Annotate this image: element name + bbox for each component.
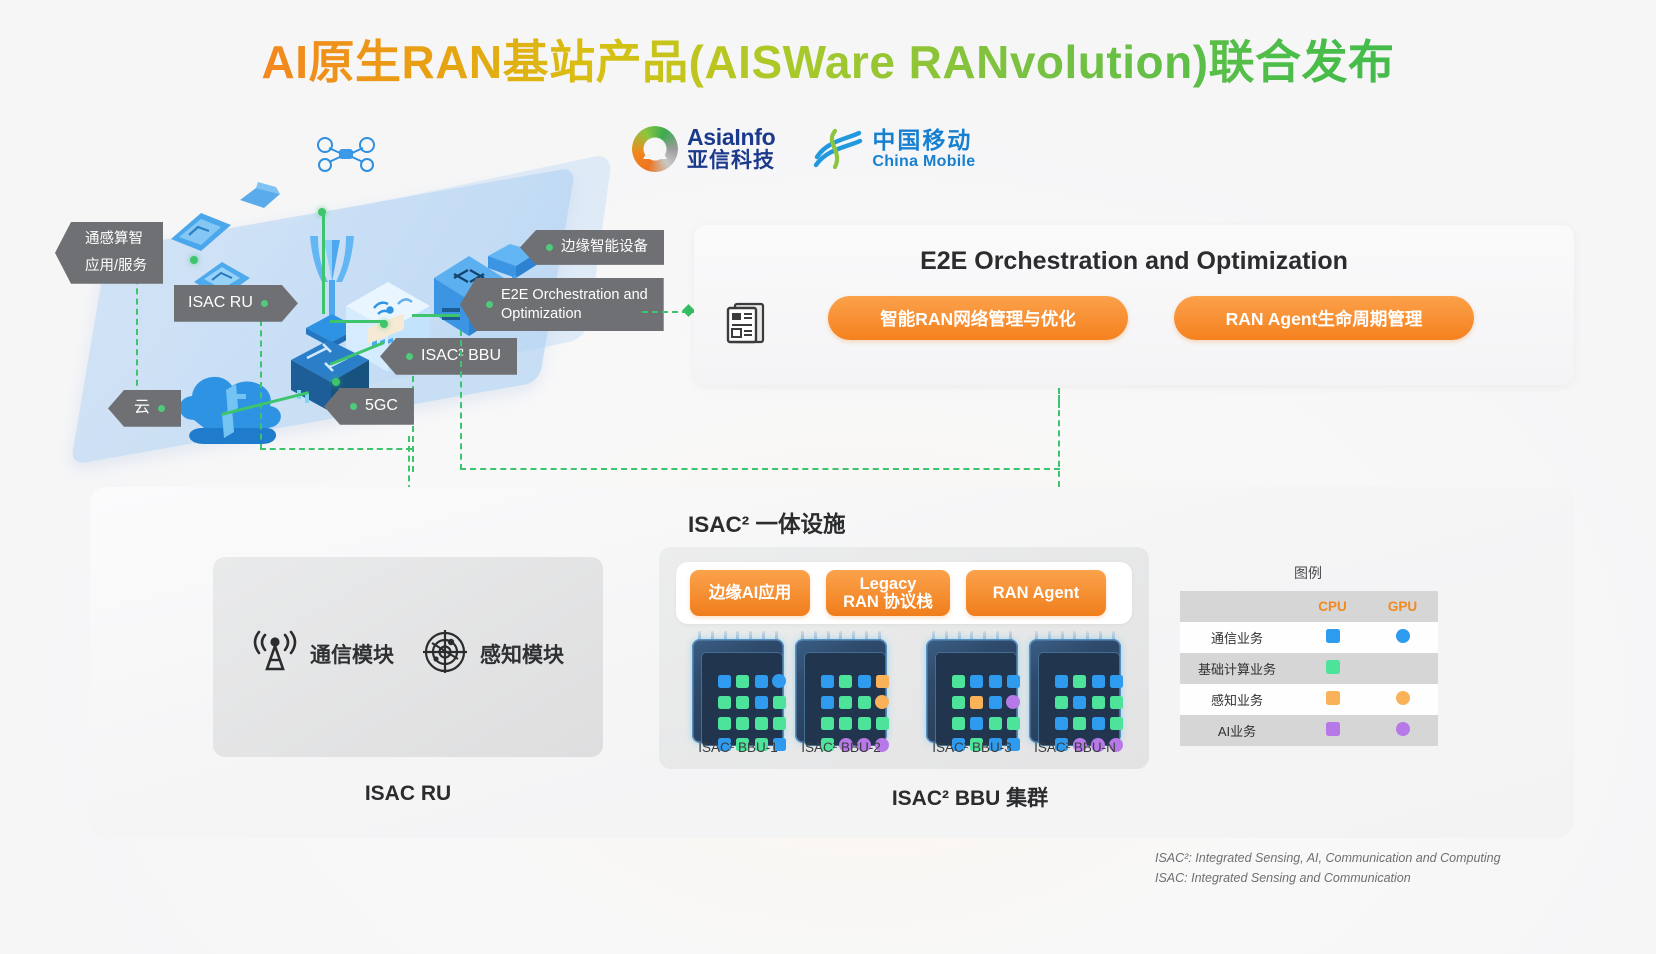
antenna-signal-icon (252, 629, 298, 678)
chip-core-cell (952, 696, 965, 709)
chip-core-cell (772, 674, 786, 688)
link-center-to-switch (412, 314, 460, 317)
chip-inner (1038, 652, 1120, 746)
color-swatch (1326, 660, 1340, 674)
legend-row-label: 基础计算业务 (1180, 653, 1298, 684)
chip-core-cell (773, 696, 786, 709)
legend-swatch-cpu (1298, 653, 1367, 684)
slide-canvas: AI原生RAN基站产品(AISWare RANvolution)联合发布 Asi… (0, 0, 1656, 954)
dashed-link-ru-h (260, 448, 412, 450)
chip-core-cell (718, 675, 731, 688)
bbu-cluster-caption: ISAC² BBU 集群 (800, 782, 1140, 812)
ru-module-sensing: 感知模块 (422, 629, 564, 678)
footnote-isac2: ISAC²: Integrated Sensing, AI, Communica… (1155, 848, 1501, 868)
link-dot (332, 378, 340, 386)
legend-panel: 图例 CPU GPU 通信业务基础计算业务感知业务AI业务 (1172, 547, 1444, 769)
chip-core-cell (989, 675, 1002, 688)
color-swatch (1396, 722, 1410, 736)
document-icon (726, 301, 766, 350)
tag-e2e-line1: E2E Orchestration and (501, 286, 648, 305)
chip-core-cell (858, 696, 871, 709)
chip-core-cell (970, 675, 983, 688)
chip-core-cell (858, 717, 871, 730)
chip-core-cell (736, 717, 749, 730)
cloud-icon (170, 358, 292, 450)
legend-header-blank (1180, 591, 1298, 622)
asiainfo-name-en: AsiaInfo (687, 126, 775, 149)
e2e-panel-title: E2E Orchestration and Optimization (694, 247, 1574, 276)
bbu-chip-label: ISAC² BBU-2 (789, 740, 893, 755)
chip-core-cell (839, 696, 852, 709)
link-dot (318, 208, 326, 216)
china-mobile-mark-icon (813, 127, 863, 171)
page-title: AI原生RAN基站产品(AISWare RANvolution)联合发布 (0, 26, 1656, 92)
legend-swatch-cpu (1298, 622, 1367, 653)
pill-ran-agent-lifecycle[interactable]: RAN Agent生命周期管理 (1174, 296, 1474, 340)
chip-core-cell (1055, 717, 1068, 730)
tag-edge-device[interactable]: 边缘智能设备 (520, 230, 664, 265)
tag-edge-device-label: 边缘智能设备 (561, 238, 648, 257)
chip-core-cell (1007, 675, 1020, 688)
link-dot (380, 320, 388, 328)
chip-core-cell (718, 696, 731, 709)
link-vertical-tower (322, 214, 325, 314)
chip-core-cell (1006, 695, 1020, 709)
chip-core-cell (989, 696, 1002, 709)
tag-e2e-line2: Optimization (501, 305, 648, 324)
legend-swatch-gpu (1367, 684, 1438, 715)
logo-china-mobile: 中国移动 China Mobile (813, 127, 975, 171)
bbu-chip[interactable] (688, 631, 788, 746)
tag-5gc[interactable]: 5GC (324, 388, 414, 425)
chip-core-cell (876, 675, 889, 688)
isac-ru-caption: ISAC RU (213, 782, 603, 806)
legend-swatch-cpu (1298, 684, 1367, 715)
footnotes: ISAC²: Integrated Sensing, AI, Communica… (1155, 848, 1501, 888)
tag-app-service-line2: 应用/服务 (85, 257, 147, 276)
radar-target-icon (422, 629, 468, 678)
app-pill-legacy-ran-line2: RAN 协议栈 (843, 593, 933, 611)
bbu-chip-label: ISAC² BBU-N (1023, 740, 1127, 755)
chip-core-cell (821, 717, 834, 730)
bbu-chip[interactable] (791, 631, 891, 746)
chip-core-cell (1073, 696, 1086, 709)
chip-core-cell (1055, 696, 1068, 709)
ru-module-row: 通信模块 感知模块 (213, 629, 603, 678)
isac-ru-card: 通信模块 感知模块 (213, 557, 603, 757)
legend-table: CPU GPU 通信业务基础计算业务感知业务AI业务 (1180, 591, 1438, 746)
chip-inner (804, 652, 886, 746)
app-pill-ran-agent-label: RAN Agent (993, 584, 1079, 602)
ru-module-communication: 通信模块 (252, 629, 394, 678)
chip-core-cell (1110, 717, 1123, 730)
chip-core-cell (858, 675, 871, 688)
chip-core-cell (755, 717, 768, 730)
chip-core-cell (989, 717, 1002, 730)
chip-core-cell (1073, 717, 1086, 730)
chip-core-cell (821, 675, 834, 688)
legend-header-row: CPU GPU (1180, 591, 1438, 622)
tablet-device-icon (165, 205, 237, 259)
legend-header-gpu: GPU (1367, 591, 1438, 622)
color-swatch (1326, 691, 1340, 705)
bbu-chip-label: ISAC² BBU-3 (920, 740, 1024, 755)
tag-isac2-bbu[interactable]: ISAC² BBU (380, 338, 517, 375)
app-pill-edge-ai[interactable]: 边缘AI应用 (690, 570, 810, 616)
asiainfo-name-cn: 亚信科技 (687, 149, 775, 172)
tag-isac-ru-label: ISAC RU (188, 293, 253, 314)
china-mobile-name-cn: 中国移动 (872, 128, 975, 152)
legend-header-cpu: CPU (1298, 591, 1367, 622)
app-pill-edge-ai-label: 边缘AI应用 (709, 584, 792, 602)
legend-row-label: 感知业务 (1180, 684, 1298, 715)
tag-cloud-label: 云 (134, 398, 150, 419)
color-swatch (1396, 691, 1410, 705)
dashed-link-mid (460, 468, 1060, 470)
chip-core-cell (773, 717, 786, 730)
legend-title: 图例 (1172, 563, 1444, 583)
chip-core-cell (755, 675, 768, 688)
chip-core-cell (821, 696, 834, 709)
ru-module-sensing-label: 感知模块 (480, 639, 564, 669)
chip-body (926, 639, 1018, 743)
chip-core-cell (1007, 717, 1020, 730)
chip-core-cell (1055, 675, 1068, 688)
chip-inner (701, 652, 783, 746)
chip-core-cell (1110, 696, 1123, 709)
legend-swatch-cpu (1298, 715, 1367, 746)
color-swatch (1326, 629, 1340, 643)
logo-row: AsiaInfo 亚信科技 中国移动 China Mobile (632, 126, 976, 173)
chip-body (692, 639, 784, 743)
legend-row-label: AI业务 (1180, 715, 1298, 746)
chip-core-cell (1073, 675, 1086, 688)
ru-module-communication-label: 通信模块 (310, 639, 394, 669)
chip-core-cell (952, 717, 965, 730)
chip-core-cell (736, 675, 749, 688)
app-pill-ran-agent[interactable]: RAN Agent (966, 570, 1106, 616)
chip-body (795, 639, 887, 743)
legend-swatch-gpu (1367, 622, 1438, 653)
chip-core-cell (736, 696, 749, 709)
chip-core-cell (1092, 675, 1105, 688)
chip-core-cell (876, 717, 889, 730)
chip-core-cell (1110, 675, 1123, 688)
chip-body (1029, 639, 1121, 743)
legend-row: 感知业务 (1180, 684, 1438, 715)
footnote-isac: ISAC: Integrated Sensing and Communicati… (1155, 868, 1501, 888)
asiainfo-mark-icon (632, 126, 678, 172)
chip-core-cell (755, 696, 768, 709)
chip-core-cell (970, 696, 983, 709)
tag-e2e-orchestration[interactable]: E2E Orchestration and Optimization (460, 278, 664, 331)
tag-app-service-line1: 通感算智 (85, 230, 143, 249)
chip-core-cell (1092, 717, 1105, 730)
link-ru-to-center (330, 320, 386, 323)
legend-row: AI业务 (1180, 715, 1438, 746)
bbu-chip[interactable] (922, 631, 1022, 746)
isac-cluster-heading: ISAC² 一体设施 (688, 507, 846, 539)
dashed-link-e2e-down (460, 330, 462, 470)
color-swatch (1326, 722, 1340, 736)
chip-core-cell (875, 695, 889, 709)
bbu-chip-label: ISAC² BBU-1 (686, 740, 790, 755)
chip-inner (935, 652, 1017, 746)
logo-asiainfo: AsiaInfo 亚信科技 (632, 126, 775, 173)
chip-core-cell (1092, 696, 1105, 709)
legend-row: 基础计算业务 (1180, 653, 1438, 684)
tag-app-service[interactable]: 通感算智 应用/服务 (55, 222, 163, 284)
chip-core-cell (970, 717, 983, 730)
china-mobile-name-en: China Mobile (872, 153, 975, 171)
legend-row: 通信业务 (1180, 622, 1438, 653)
legend-swatch-gpu (1367, 715, 1438, 746)
dashed-link-ru (260, 320, 262, 450)
legend-row-label: 通信业务 (1180, 622, 1298, 653)
app-pill-legacy-ran[interactable]: Legacy RAN 协议栈 (826, 570, 950, 616)
chip-core-cell (718, 717, 731, 730)
bbu-chip[interactable] (1025, 631, 1125, 746)
legend-swatch-gpu (1367, 653, 1438, 684)
app-pill-legacy-ran-line1: Legacy (860, 575, 917, 593)
pill-ran-network-management[interactable]: 智能RAN网络管理与优化 (828, 296, 1128, 340)
tag-5gc-label: 5GC (365, 396, 398, 417)
tag-isac-ru[interactable]: ISAC RU (174, 285, 298, 322)
dashed-link-e2e-panel-down (1058, 388, 1060, 408)
tag-anchor-dot (190, 256, 198, 264)
chip-core-cell (839, 675, 852, 688)
vehicle-icon (236, 180, 284, 214)
isometric-network-diagram: 通感算智 应用/服务 ISAC RU 边缘智能设备 E2E Orchestrat… (60, 190, 710, 480)
drone-icon (315, 135, 377, 177)
color-swatch (1396, 629, 1410, 643)
e2e-orchestration-panel: E2E Orchestration and Optimization 智能RAN… (694, 225, 1574, 385)
chip-core-cell (839, 717, 852, 730)
chip-core-cell (952, 675, 965, 688)
